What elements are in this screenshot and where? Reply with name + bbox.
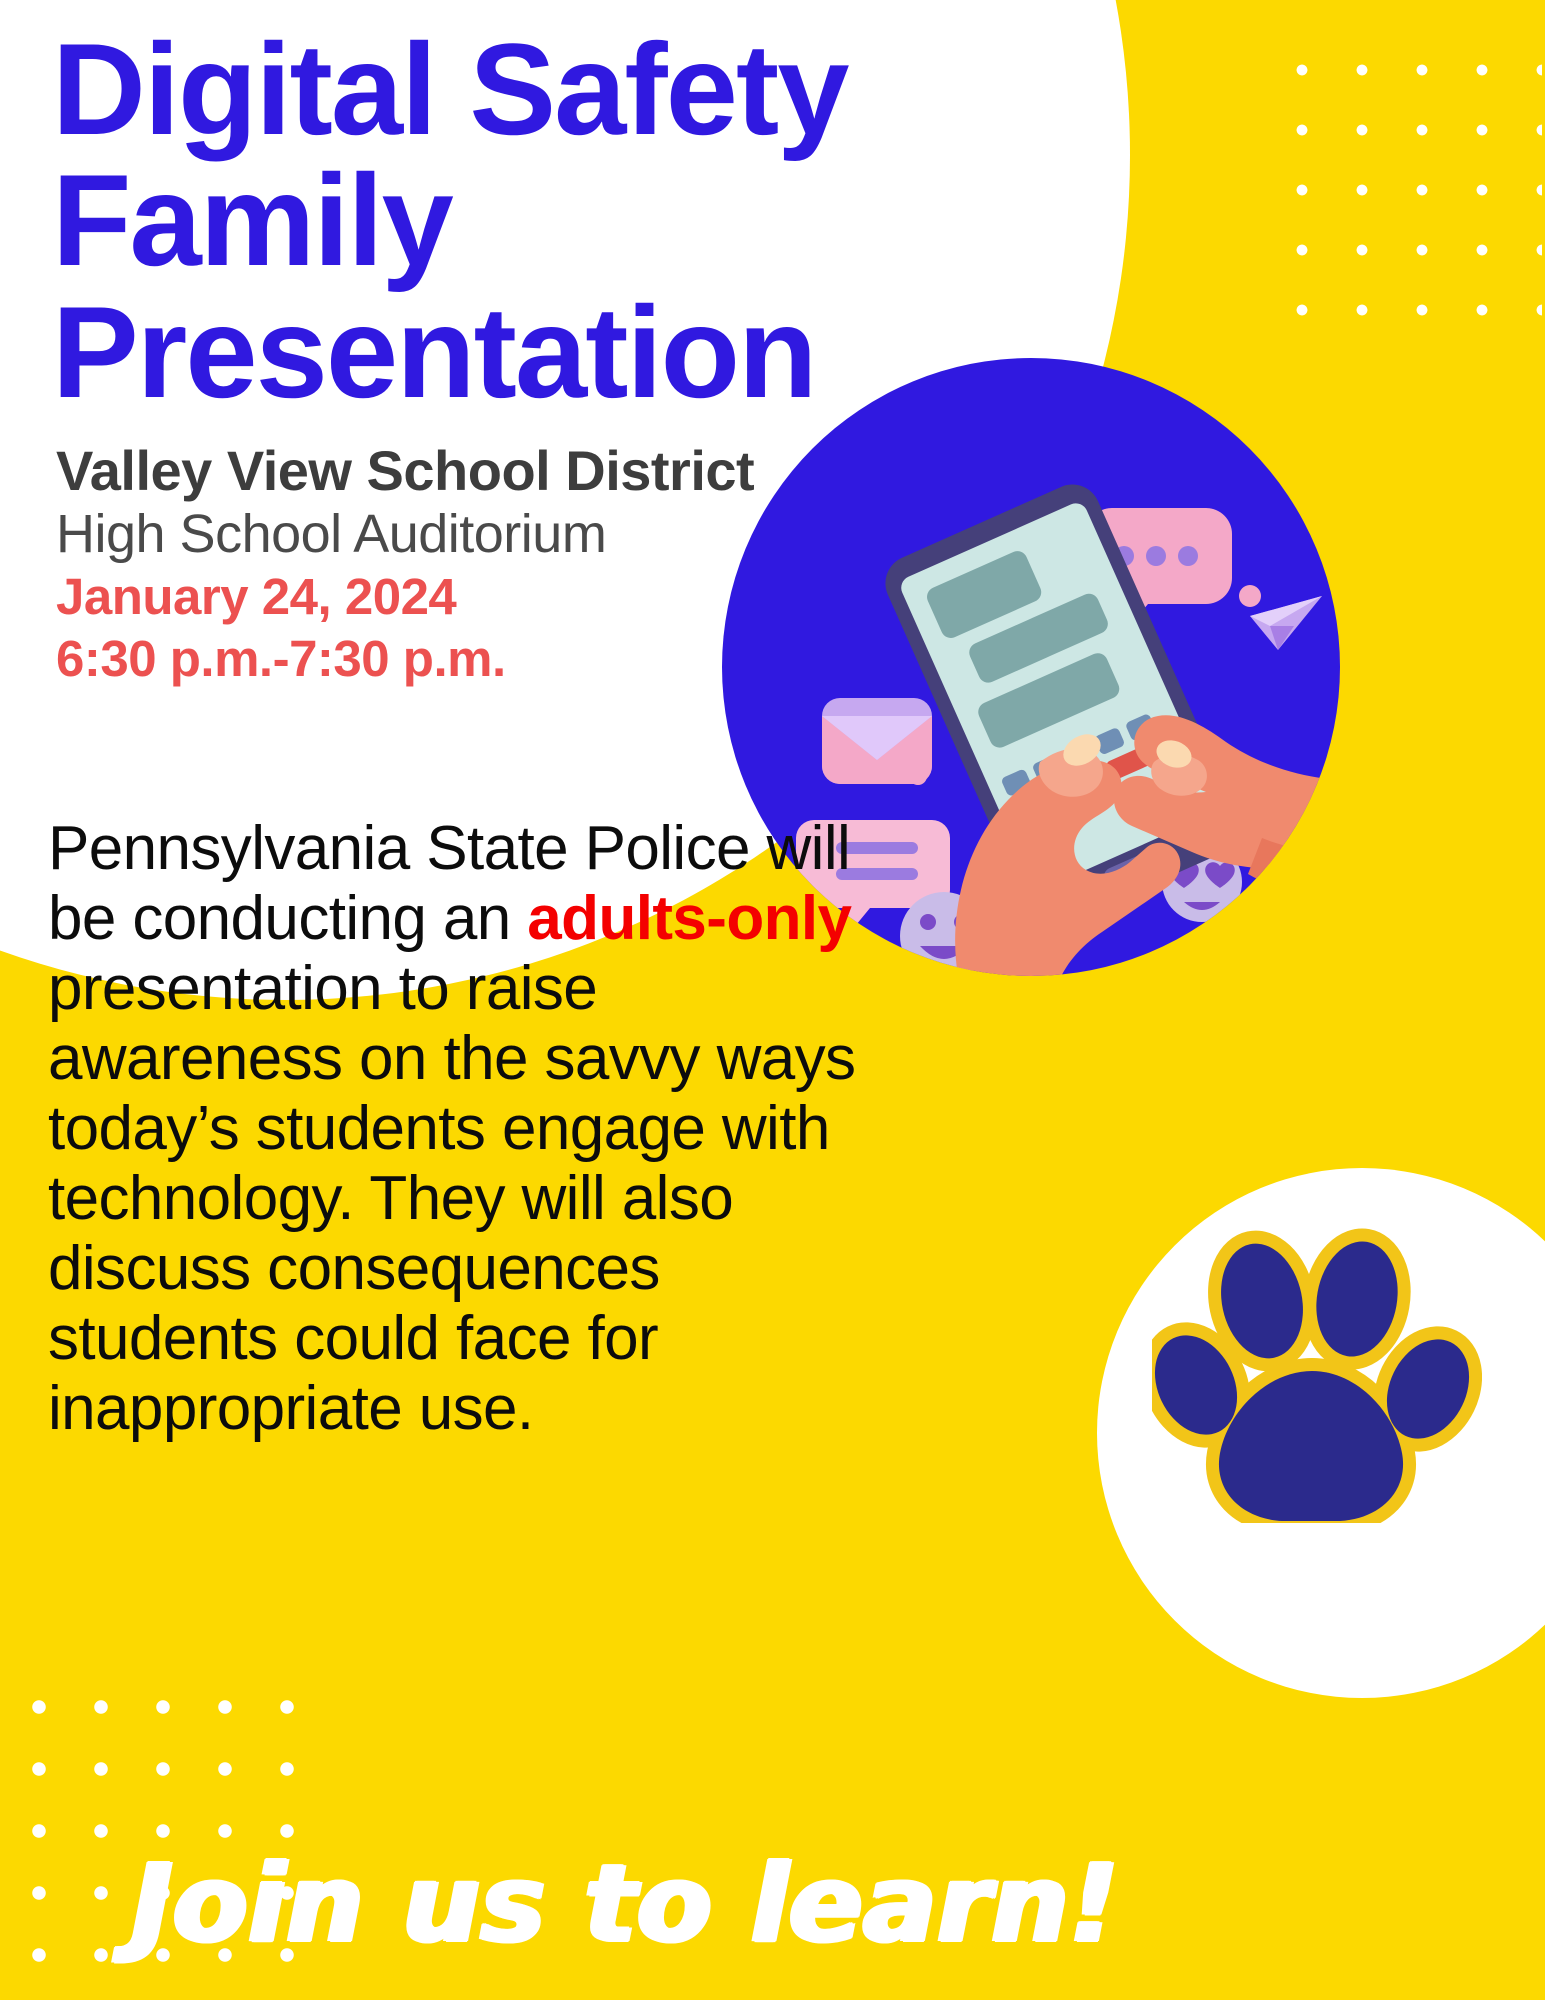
adults-only-highlight: adults-only (527, 884, 851, 953)
envelope-icon (822, 698, 932, 784)
paper-plane-icon (1250, 596, 1322, 650)
headline-line-1: Digital Safety (52, 24, 952, 155)
headline-line-3: Presentation (52, 287, 952, 418)
dot-pattern-top-right (1272, 40, 1542, 360)
description-paragraph: Pennsylvania State Police will be conduc… (48, 814, 878, 1444)
event-time: 6:30 p.m.-7:30 p.m. (56, 628, 916, 689)
paw-logo-circle (1097, 1168, 1545, 1698)
page-title: Digital Safety Family Presentation (52, 24, 952, 418)
call-to-action-text: Join us to learn! (132, 1842, 1120, 1967)
venue-name: High School Auditorium (56, 503, 916, 567)
description-part-2: presentation to raise awareness on the s… (48, 954, 855, 1443)
paw-print-icon (1152, 1223, 1482, 1523)
school-district-name: Valley View School District (56, 440, 916, 503)
headline-line-2: Family (52, 155, 952, 286)
digital-safety-flyer: Digital Safety Family Presentation Valle… (0, 0, 1545, 2000)
event-date: January 24, 2024 (56, 566, 916, 627)
event-details: Valley View School District High School … (56, 440, 916, 689)
